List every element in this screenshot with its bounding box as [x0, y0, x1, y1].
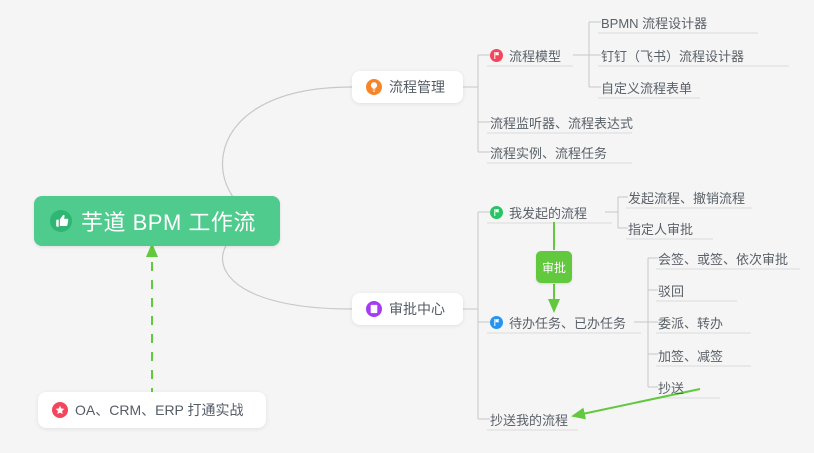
node-countersign-orsign-sequential[interactable]: 会签、或签、依次审批: [658, 247, 788, 269]
root-label: 芋道 BPM 工作流: [81, 205, 256, 237]
node-custom-process-form[interactable]: 自定义流程表单: [601, 76, 692, 98]
node-label: 委派、转办: [658, 313, 723, 332]
approve-annotation-badge: 审批: [536, 251, 572, 283]
badge-label: 审批: [542, 259, 566, 276]
node-todo-done-tasks[interactable]: 待办任务、已办任务: [490, 311, 626, 333]
node-start-cancel-process[interactable]: 发起流程、撤销流程: [628, 186, 745, 208]
node-add-remove-sign[interactable]: 加签、减签: [658, 344, 723, 366]
node-bpmn-designer[interactable]: BPMN 流程设计器: [601, 11, 707, 33]
node-process-model[interactable]: 流程模型: [490, 44, 561, 66]
star-icon: [52, 402, 68, 418]
clipboard-icon: [366, 301, 382, 317]
node-label: 我发起的流程: [509, 203, 587, 222]
node-cc-to-me-processes[interactable]: 抄送我的流程: [490, 408, 568, 430]
root-node[interactable]: 芋道 BPM 工作流: [34, 196, 280, 246]
lightbulb-icon: [366, 79, 382, 95]
bottom-note-label: OA、CRM、ERP 打通实战: [75, 400, 244, 420]
node-my-initiated-processes[interactable]: 我发起的流程: [490, 201, 587, 223]
mindmap-canvas: 芋道 BPM 工作流 流程管理 流程模型 BPMN 流程设计器 钉钉（飞书）流程…: [0, 0, 814, 453]
node-label: 发起流程、撤销流程: [628, 188, 745, 207]
node-label: 会签、或签、依次审批: [658, 249, 788, 268]
node-label: 驳回: [658, 281, 684, 300]
node-label: BPMN 流程设计器: [601, 13, 707, 32]
node-label: 自定义流程表单: [601, 78, 692, 97]
thumbs-up-icon: [50, 210, 72, 232]
node-process-instance-task[interactable]: 流程实例、流程任务: [490, 141, 607, 163]
node-label: 流程监听器、流程表达式: [490, 113, 633, 132]
node-process-listener-expression[interactable]: 流程监听器、流程表达式: [490, 111, 633, 133]
branch-label: 流程管理: [389, 77, 445, 97]
flag-icon: [490, 316, 503, 329]
bottom-note-node[interactable]: OA、CRM、ERP 打通实战: [38, 392, 266, 428]
node-label: 抄送: [658, 378, 684, 397]
node-label: 加签、减签: [658, 346, 723, 365]
node-designated-approver[interactable]: 指定人审批: [628, 217, 693, 239]
node-label: 钉钉（飞书）流程设计器: [601, 46, 744, 65]
branch-label: 审批中心: [389, 299, 445, 319]
node-reject[interactable]: 驳回: [658, 279, 684, 301]
node-label: 流程实例、流程任务: [490, 143, 607, 162]
flag-icon: [490, 206, 503, 219]
branch-node-approval-center[interactable]: 审批中心: [352, 293, 463, 325]
node-label: 指定人审批: [628, 219, 693, 238]
node-label: 抄送我的流程: [490, 410, 568, 429]
node-label: 待办任务、已办任务: [509, 313, 626, 332]
node-delegate-transfer[interactable]: 委派、转办: [658, 311, 723, 333]
node-dingtalk-feishu-designer[interactable]: 钉钉（飞书）流程设计器: [601, 44, 744, 66]
branch-node-process-management[interactable]: 流程管理: [352, 71, 463, 103]
flag-icon: [490, 49, 503, 62]
node-label: 流程模型: [509, 46, 561, 65]
node-cc[interactable]: 抄送: [658, 376, 684, 398]
